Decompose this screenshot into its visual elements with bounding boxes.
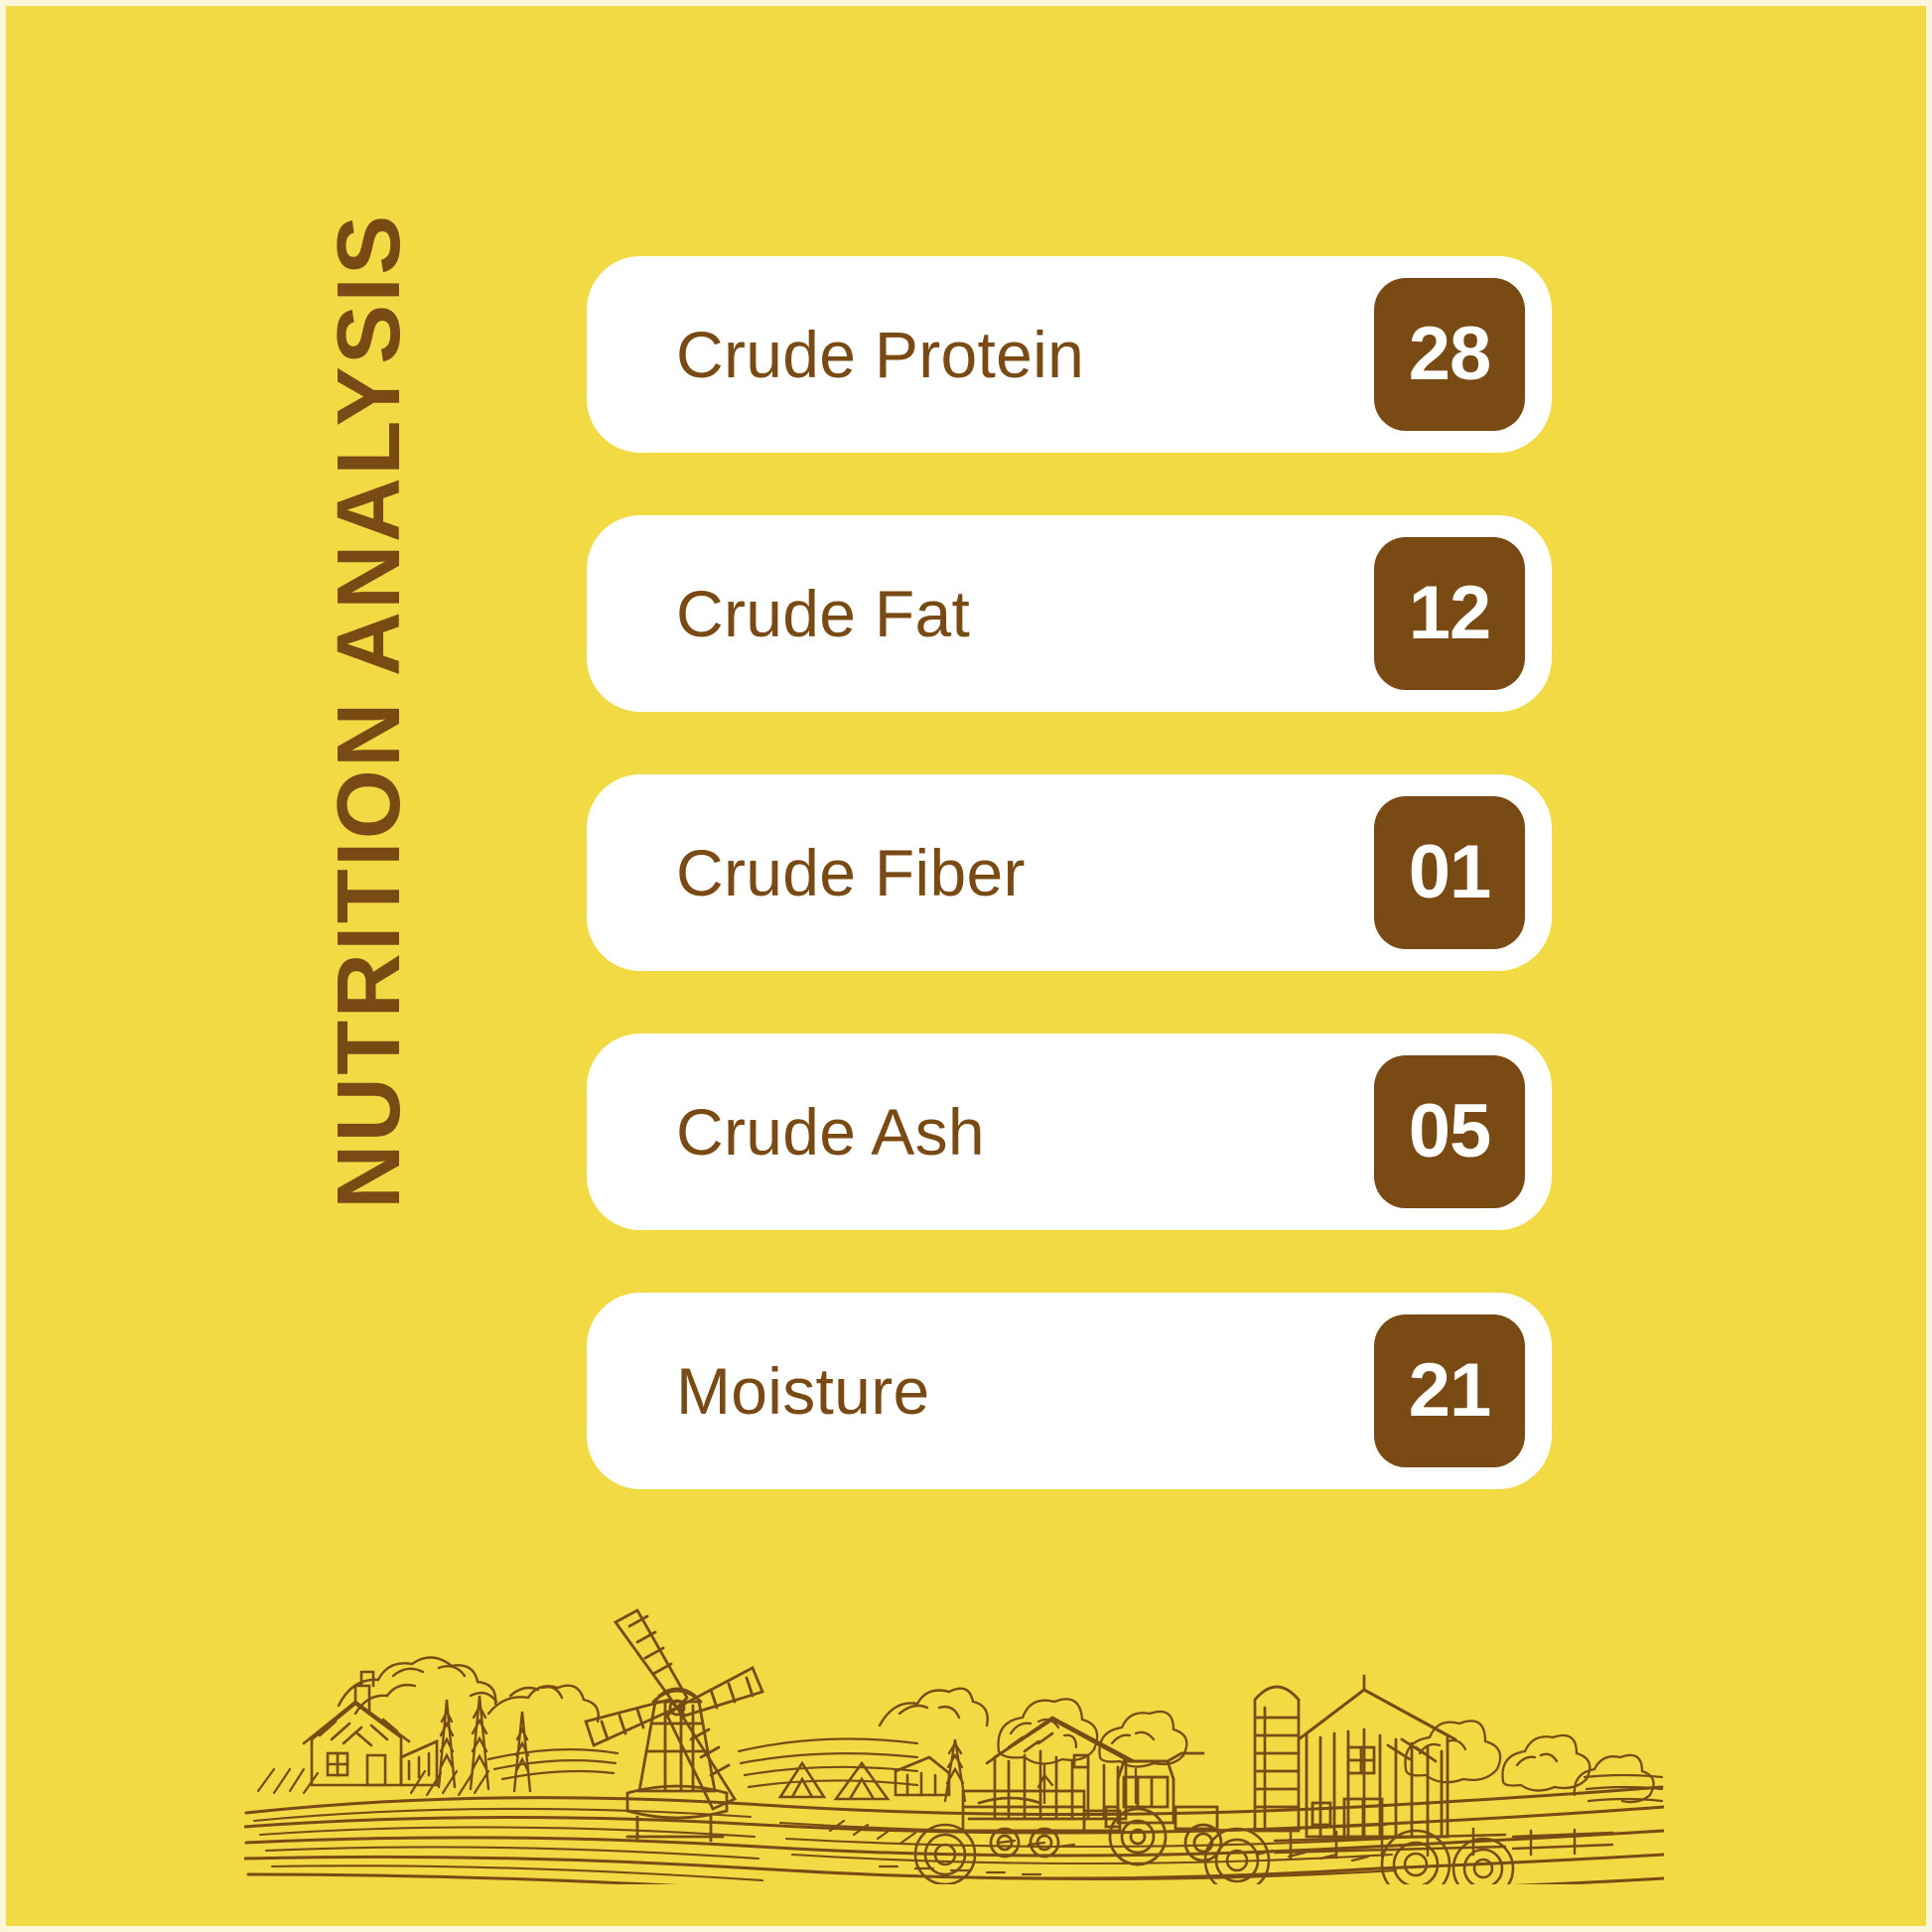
- nutrient-value: 12: [1409, 576, 1491, 651]
- nutrient-label: Crude Ash: [676, 1099, 985, 1165]
- page-title: NUTRITION ANALYSIS: [322, 209, 417, 1212]
- nutrient-value: 01: [1409, 835, 1491, 910]
- nutrient-label: Crude Fat: [676, 581, 970, 646]
- list-item[interactable]: Crude Fat 12: [587, 515, 1552, 712]
- sheds-center: [780, 1757, 949, 1799]
- status-badge: 12: [1374, 537, 1525, 690]
- status-badge: 21: [1374, 1314, 1525, 1467]
- page-title-text: NUTRITION ANALYSIS: [325, 212, 414, 1208]
- farm-landscape-svg: [244, 1557, 1664, 1884]
- nutrition-analysis-poster: NUTRITION ANALYSIS Crude Protein 28 Crud…: [0, 0, 1932, 1932]
- windmill: [586, 1610, 762, 1841]
- nutrient-label: Crude Fiber: [676, 840, 1026, 905]
- nutrient-value: 28: [1409, 317, 1491, 392]
- barn: [1299, 1676, 1455, 1837]
- list-item[interactable]: Crude Protein 28: [587, 256, 1552, 453]
- bushes-center-right: [880, 1689, 988, 1725]
- nutrient-value: 21: [1409, 1353, 1491, 1429]
- cottage: [304, 1672, 437, 1785]
- farm-landscape-icon: [244, 1557, 1664, 1884]
- nutrient-value: 05: [1409, 1094, 1491, 1170]
- nutrient-label: Crude Protein: [676, 322, 1084, 387]
- tractor: [1106, 1753, 1221, 1864]
- bushes-left: [339, 1657, 599, 1722]
- list-item[interactable]: Crude Fiber 01: [587, 774, 1552, 971]
- status-badge: 28: [1374, 278, 1525, 431]
- status-badge: 01: [1374, 796, 1525, 949]
- nutrition-card-list: Crude Protein 28 Crude Fat 12 Crude Fibe…: [587, 256, 1552, 1489]
- barn-house: [987, 1718, 1134, 1819]
- status-badge: 05: [1374, 1055, 1525, 1208]
- nutrient-label: Moisture: [676, 1358, 929, 1424]
- list-item[interactable]: Moisture 21: [587, 1293, 1552, 1489]
- list-item[interactable]: Crude Ash 05: [587, 1034, 1552, 1230]
